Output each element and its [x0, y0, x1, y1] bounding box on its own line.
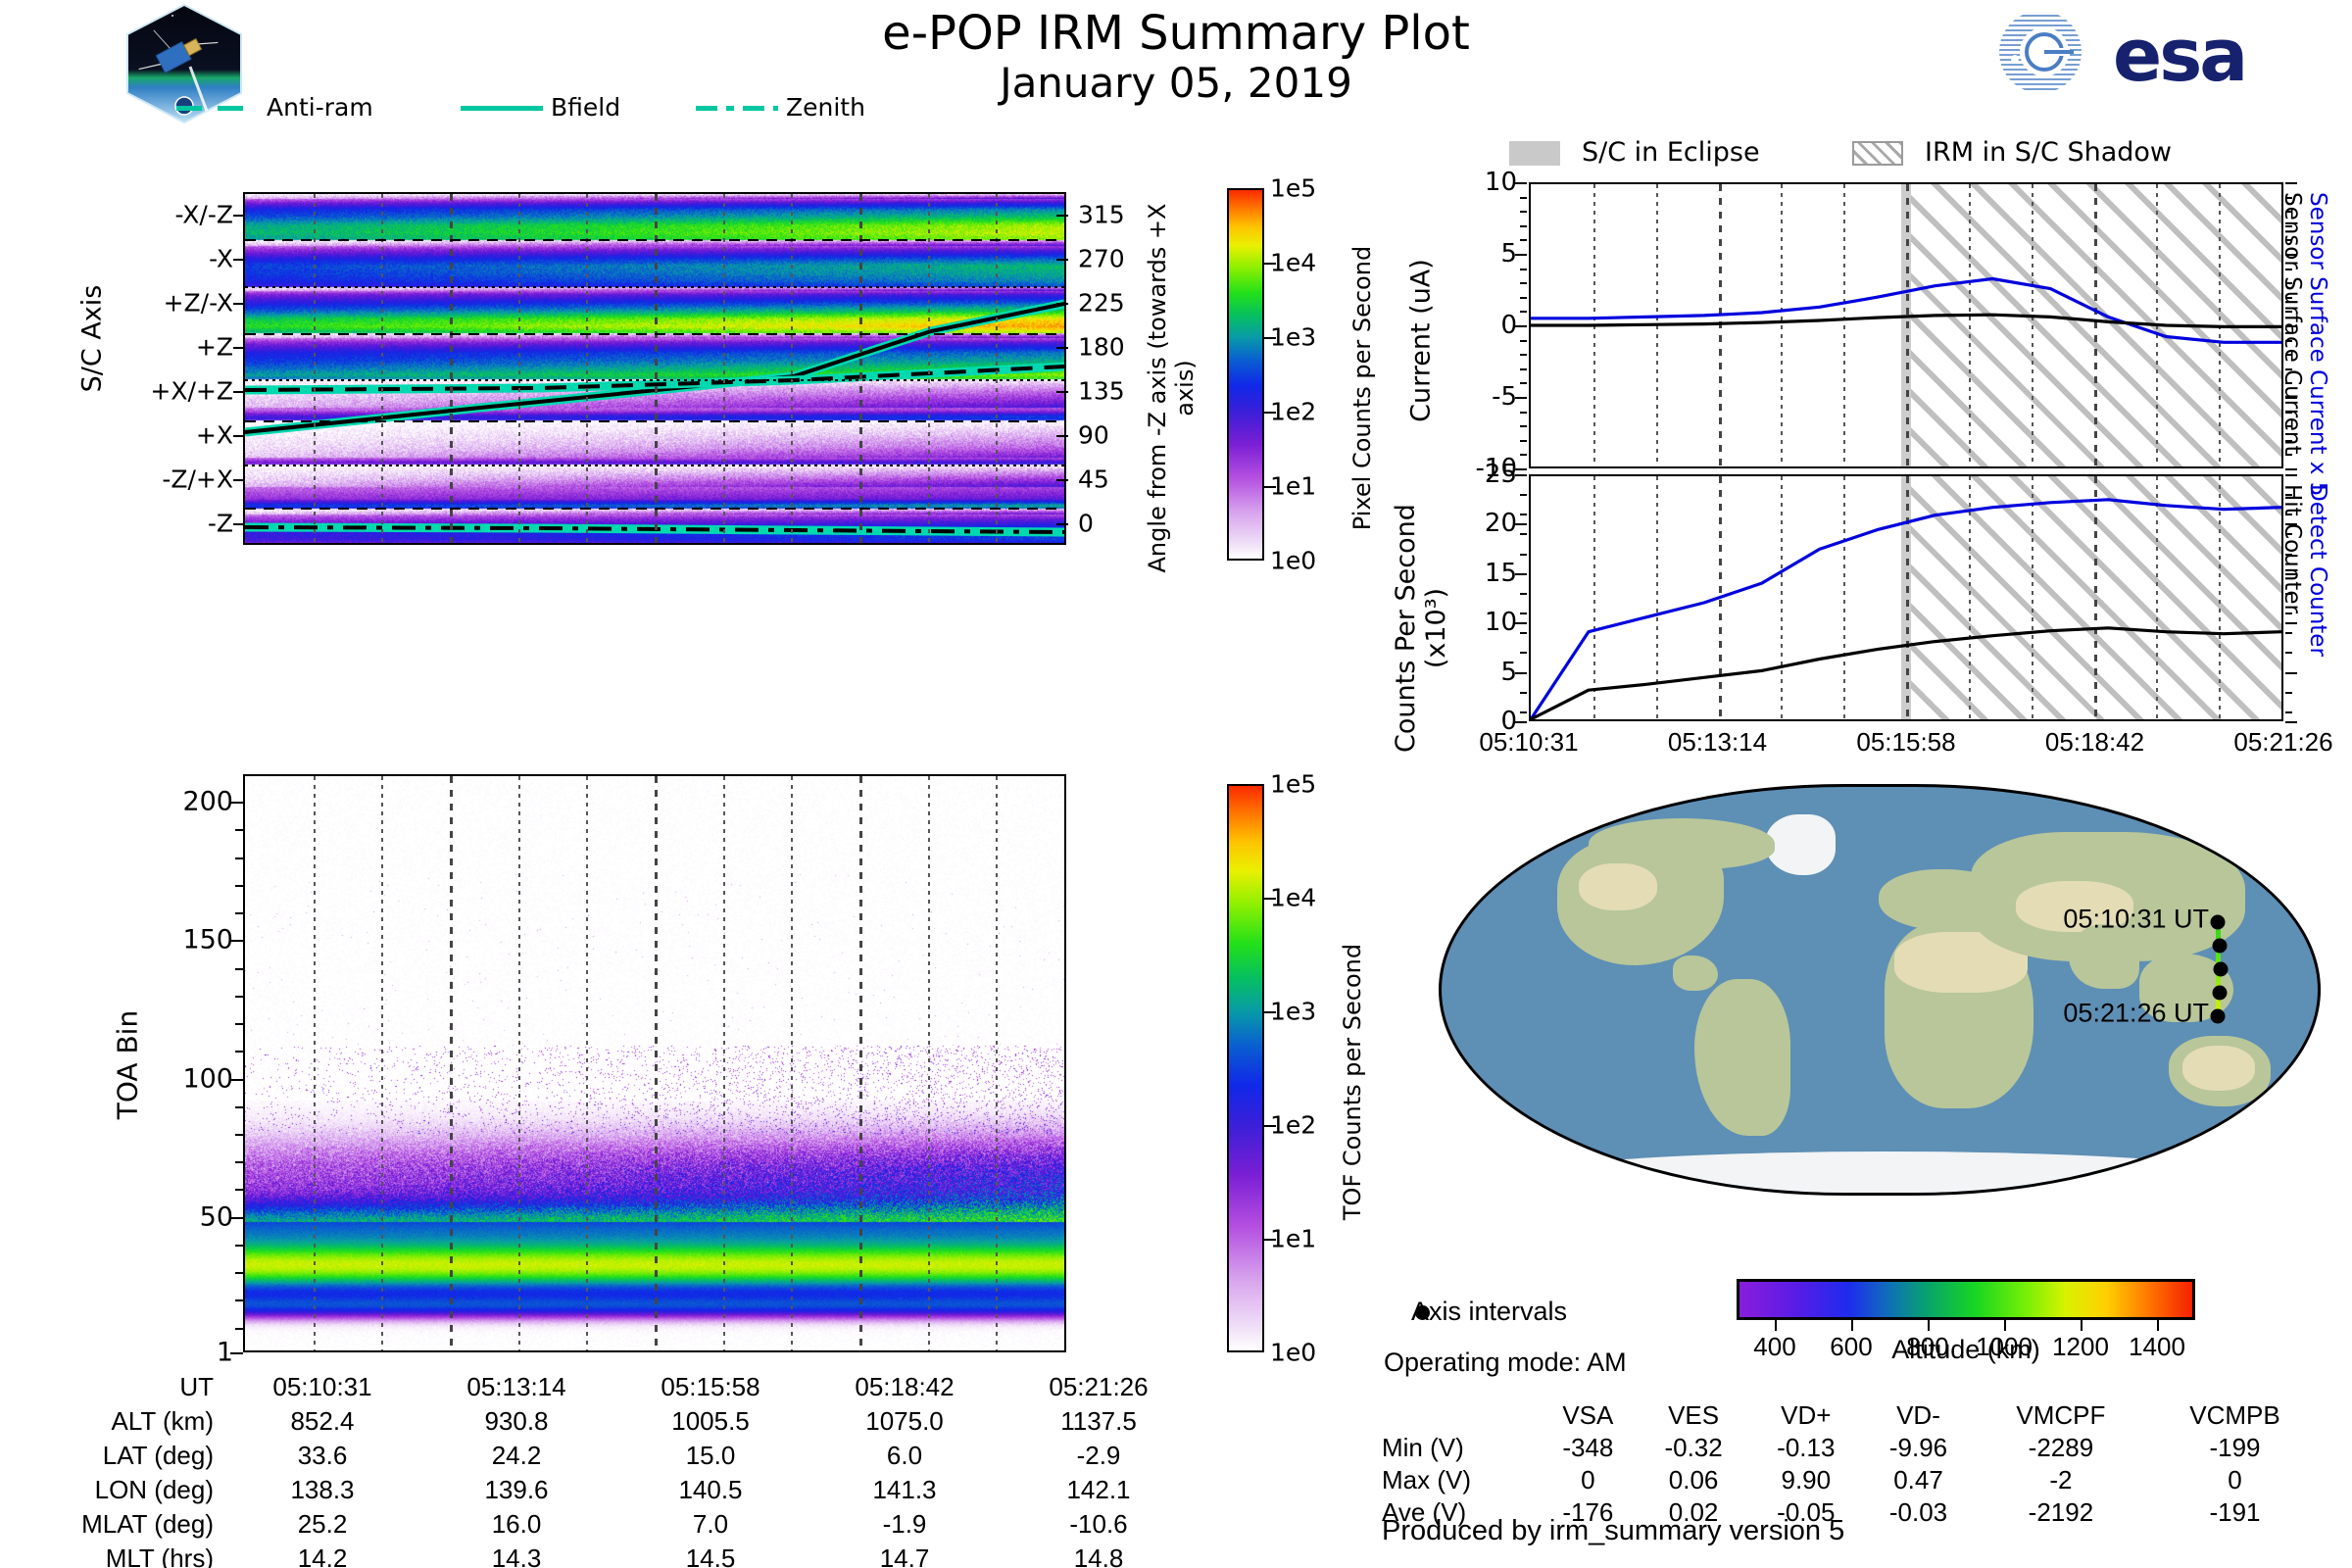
table-row: ALT (km)852.4930.81005.51075.01137.5 — [39, 1404, 1196, 1439]
column-header: VCMPB — [2147, 1399, 2323, 1432]
colorbar-tick-label: 1e3 — [1270, 998, 1316, 1026]
axis-tick-minor — [1520, 612, 1527, 614]
axis-tick — [233, 391, 245, 393]
axis-tick — [233, 259, 245, 261]
cell: 14.3 — [419, 1542, 613, 1568]
axis-tick-minor — [1520, 382, 1527, 384]
grid-line-minor — [314, 776, 316, 1350]
grid-line-minor — [791, 194, 793, 543]
axis-tick-minor — [2285, 692, 2292, 694]
row-label: LAT (deg) — [39, 1439, 225, 1473]
track-start-time: 05:10:31 UT — [2063, 905, 2209, 935]
solid-line-icon — [461, 106, 543, 111]
data-line — [1531, 500, 2281, 719]
greenland — [1765, 814, 1836, 875]
axis-tick-minor — [235, 1272, 243, 1274]
eclipse-swatch-icon — [1509, 141, 1560, 166]
sc-axis-tick-label: -X/-Z — [175, 200, 233, 228]
eclipse-legend: S/C in Eclipse IRM in S/C Shadow — [1509, 137, 2352, 171]
cell: 05:18:42 — [808, 1370, 1002, 1404]
colorbar-tick — [1851, 1320, 1853, 1331]
track-dot — [2211, 915, 2226, 930]
axis-tick-minor — [235, 1189, 243, 1191]
sc-axis-tick-label: -Z/+X — [162, 465, 233, 493]
grid-line-major — [450, 194, 453, 543]
pixel-counts-colorbar-title: Pixel Counts per Second — [1348, 192, 1376, 584]
angle-tick-label: 225 — [1078, 288, 1125, 317]
axis-tick-minor — [1520, 425, 1527, 427]
cell: 14.7 — [808, 1542, 1002, 1568]
toa-tick-label: 100 — [182, 1063, 233, 1094]
track-dot — [2214, 962, 2229, 977]
axis-tick — [1056, 523, 1068, 525]
cell: -0.13 — [1749, 1432, 1862, 1464]
row-label: MLAT (deg) — [39, 1507, 225, 1542]
axis-tick-label: 10 — [1485, 608, 1517, 637]
axis-tick-minor — [1520, 282, 1527, 284]
legend-label-anti-ram: Anti-ram — [267, 93, 373, 122]
axis-tick — [233, 479, 245, 481]
cell: 0 — [2147, 1464, 2323, 1496]
axis-tick — [2285, 622, 2297, 624]
axis-tick-minor — [1520, 533, 1527, 535]
axis-tick — [1056, 259, 1068, 261]
axis-tick — [233, 215, 245, 217]
axis-tick-minor — [1520, 711, 1527, 713]
colorbar-tick — [1775, 1320, 1777, 1331]
angle-axis-label: Angle from -Z axis (towards +X axis) — [1144, 182, 1199, 594]
cell: -2.9 — [1002, 1439, 1196, 1473]
sc-axis-tick-label: -X — [209, 244, 233, 272]
grid-line-minor — [586, 194, 588, 543]
antarctica — [1500, 1151, 2275, 1196]
axis-tick-minor — [1520, 454, 1527, 456]
cell: 1075.0 — [808, 1404, 1002, 1439]
sector-divider — [245, 239, 1064, 241]
axis-tick — [233, 435, 245, 437]
time-tick-label: 05:15:58 — [1856, 727, 1955, 758]
row-label: Max (V) — [1382, 1464, 1539, 1496]
axis-tick-minor — [235, 1106, 243, 1108]
track-dot — [2213, 986, 2228, 1001]
colorbar-tick-label: 1e5 — [1270, 174, 1316, 203]
cell: -1.9 — [808, 1507, 1002, 1542]
cell: 14.8 — [1002, 1542, 1196, 1568]
angle-tick-label: 45 — [1078, 465, 1109, 493]
sc-axis-tick-labels: -X/-Z-X+Z/-X+Z+X/+Z+X-Z/+X-Z — [59, 192, 233, 545]
axis-tick-minor — [1520, 197, 1527, 199]
sc-axis-tick-label: +X/+Z — [150, 376, 233, 405]
axis-tick-label: -5 — [1492, 382, 1517, 412]
cell: 25.2 — [225, 1507, 419, 1542]
axis-tick — [1056, 303, 1068, 305]
axis-tick — [2285, 721, 2297, 723]
axis-tick-minor — [1520, 311, 1527, 313]
australia-interior — [2182, 1046, 2255, 1091]
grid-line-minor — [381, 194, 383, 543]
row-label-empty — [1382, 1399, 1539, 1432]
axis-tick-label: 20 — [1485, 509, 1517, 538]
column-header: VSA — [1539, 1399, 1638, 1432]
cell: 05:13:14 — [419, 1370, 613, 1404]
axis-tick-minor — [1520, 269, 1527, 270]
cell: -2192 — [1975, 1496, 2147, 1529]
axis-tick — [2285, 182, 2297, 184]
cell: 1005.5 — [613, 1404, 808, 1439]
colorbar-tick-label: 1e2 — [1270, 398, 1316, 426]
row-label: MLT (hrs) — [39, 1542, 225, 1568]
axis-tick-minor — [235, 1299, 243, 1301]
altitude-colorbar-title: Altitude (km) — [1737, 1335, 2195, 1365]
table-row: MLAT (deg)25.216.07.0-1.9-10.6 — [39, 1507, 1196, 1542]
cell: 9.90 — [1749, 1464, 1862, 1496]
grid-line-minor — [996, 776, 998, 1350]
colorbar-tick — [1928, 1320, 1930, 1331]
colorbar-tick-label: 1e5 — [1270, 770, 1316, 799]
grid-line-minor — [996, 194, 998, 543]
axis-tick — [1056, 391, 1068, 393]
toa-tick-labels: 200150100501 — [88, 774, 233, 1352]
grid-line-minor — [928, 194, 930, 543]
cell: 33.6 — [225, 1439, 419, 1473]
angle-tick-label: 315 — [1078, 200, 1125, 228]
axis-tick-minor — [235, 1245, 243, 1247]
axis-tick-minor — [1520, 225, 1527, 227]
sector-divider — [245, 333, 1064, 335]
operating-mode-label: Operating mode: AM — [1384, 1347, 1627, 1378]
axis-tick-minor — [1520, 440, 1527, 442]
axis-tick-minor — [1520, 239, 1527, 241]
axis-tick — [1056, 215, 1068, 217]
cell: -199 — [2147, 1432, 2323, 1464]
row-label: LON (deg) — [39, 1473, 225, 1507]
axis-tick-minor — [1520, 340, 1527, 342]
axis-tick-label: 10 — [1485, 168, 1517, 197]
sector-divider — [245, 465, 1064, 466]
cell: -348 — [1539, 1432, 1638, 1464]
cell: -2 — [1975, 1464, 2147, 1496]
track-end-time: 05:21:26 UT — [2063, 999, 2209, 1029]
track-dot — [2211, 1009, 2226, 1024]
cell: 142.1 — [1002, 1473, 1196, 1507]
grid-line-minor — [518, 776, 520, 1350]
column-header: VMCPF — [1975, 1399, 2147, 1432]
grid-line-major — [450, 776, 453, 1350]
column-header: VES — [1638, 1399, 1750, 1432]
toa-bin-axis-label: TOA Bin — [112, 967, 144, 1163]
legend-label-shadow: IRM in S/C Shadow — [1925, 137, 2172, 168]
axis-intervals-label: Axis intervals — [1411, 1297, 1567, 1327]
axis-tick — [1056, 347, 1068, 349]
grid-line-minor — [723, 776, 725, 1350]
axis-tick-minor — [1520, 514, 1527, 515]
toa-tick-label: 150 — [182, 925, 233, 955]
central-america — [1673, 955, 1718, 991]
axis-tick-label: 15 — [1485, 559, 1517, 588]
colorbar-tick-label: 1e1 — [1270, 1225, 1316, 1253]
north-america-interior — [1579, 863, 1657, 910]
axis-tick-minor — [2285, 454, 2292, 456]
cell: 0 — [1539, 1464, 1638, 1496]
cell: 16.0 — [419, 1507, 613, 1542]
esa-logo: esa — [1989, 10, 2303, 94]
axis-tick-minor — [1520, 692, 1527, 694]
colorbar-tick — [2157, 1320, 2159, 1331]
cell: 140.5 — [613, 1473, 808, 1507]
angle-tick-label: 0 — [1078, 509, 1094, 537]
footer-text: Produced by irm_summary version 5 — [1382, 1515, 1844, 1547]
axis-tick-minor — [235, 1161, 243, 1163]
colorbar-tick-label: 1e2 — [1270, 1111, 1316, 1140]
cell: -0.32 — [1638, 1432, 1750, 1464]
voltage-table: VSAVESVD+VD-VMCPFVCMPBMin (V)-348-0.32-0… — [1382, 1399, 2323, 1529]
grid-line-minor — [791, 776, 793, 1350]
cell: -0.03 — [1862, 1496, 1975, 1529]
colorbar-tick — [2081, 1320, 2082, 1331]
grid-line-minor — [518, 194, 520, 543]
ground-track-map[interactable]: 05:10:31 UT 05:21:26 UT — [1439, 784, 2321, 1196]
cell: 141.3 — [808, 1473, 1002, 1507]
axis-tick-minor — [235, 1051, 243, 1053]
axis-tick-minor — [235, 885, 243, 887]
time-tick-label: 05:21:26 — [2233, 727, 2332, 758]
sc-axis-tick-label: -Z — [208, 509, 233, 537]
axis-tick — [2285, 474, 2297, 476]
axis-tick — [1056, 435, 1068, 437]
axis-tick-minor — [1520, 354, 1527, 356]
grid-line-minor — [586, 776, 588, 1350]
track-dot — [2213, 939, 2228, 954]
axis-tick-minor — [235, 829, 243, 831]
axis-tick-minor — [235, 968, 243, 970]
sc-axis-tick-label: +Z — [196, 332, 233, 361]
axis-tick-minor — [1520, 652, 1527, 654]
legend-label-bfield: Bfield — [551, 93, 620, 122]
colorbar-tick — [2004, 1320, 2006, 1331]
grid-line-major — [655, 776, 658, 1350]
map-globe — [1439, 784, 2321, 1196]
column-header: VD- — [1862, 1399, 1975, 1432]
axis-tick-minor — [235, 1328, 243, 1330]
cell: 05:15:58 — [613, 1370, 808, 1404]
axis-tick-minor — [1520, 211, 1527, 213]
axis-tick — [2285, 672, 2297, 674]
counts-right-label-blue: Detect Counter — [2305, 484, 2330, 657]
data-line — [1531, 279, 2281, 343]
time-tick-label: 05:18:42 — [2045, 727, 2144, 758]
axis-tick-minor — [1520, 593, 1527, 595]
dashed-line-icon — [176, 106, 259, 111]
axis-tick-label: 25 — [1485, 460, 1517, 489]
dash-dot-line-icon — [696, 106, 778, 111]
toa-tick-label: 200 — [182, 787, 233, 817]
cell: 7.0 — [613, 1507, 808, 1542]
axis-tick-minor — [1520, 368, 1527, 370]
colorbar-tick-label: 1e3 — [1270, 323, 1316, 352]
toa-bin-spectrogram-plot[interactable] — [243, 774, 1066, 1352]
sector-divider — [245, 379, 1064, 381]
grid-line-minor — [928, 776, 930, 1350]
grid-line-major — [859, 194, 862, 543]
time-tick-label: 05:13:14 — [1668, 727, 1767, 758]
axis-tick — [233, 523, 245, 525]
cell: 05:21:26 — [1002, 1370, 1196, 1404]
cell: 1137.5 — [1002, 1404, 1196, 1439]
current-axis-label: Current (uA) — [1406, 223, 1437, 459]
cell: 6.0 — [808, 1439, 1002, 1473]
table-row: MLT (hrs)14.214.314.514.714.8 — [39, 1542, 1196, 1568]
cell: -9.96 — [1862, 1432, 1975, 1464]
angle-spectrogram-plot[interactable] — [243, 192, 1066, 545]
table-row: LAT (deg)33.624.215.06.0-2.9 — [39, 1439, 1196, 1473]
colorbar-tick-label: 1e4 — [1270, 249, 1316, 277]
spectrogram-legend: Anti-ram Bfield Zenith — [176, 93, 921, 126]
counts-right-label-black: Hit Counter — [2279, 484, 2305, 613]
time-axis-labels: 05:10:3105:13:1405:15:5805:18:4205:21:26 — [0, 727, 2352, 766]
shadow-hatch-icon — [1852, 141, 1903, 166]
axis-tick-label: 5 — [1500, 658, 1517, 687]
angle-tick-label: 90 — [1078, 420, 1109, 449]
toa-tick-label: 50 — [200, 1201, 233, 1232]
toa-tick-label: 1 — [217, 1338, 233, 1368]
table-row: UT05:10:3105:13:1405:15:5805:18:4205:21:… — [39, 1370, 1196, 1404]
table-row: Min (V)-348-0.32-0.13-9.96-2289-199 — [1382, 1432, 2323, 1464]
table-header-row: VSAVESVD+VD-VMCPFVCMPB — [1382, 1399, 2323, 1432]
cell: 24.2 — [419, 1439, 613, 1473]
data-line — [1531, 628, 2281, 719]
cell: 05:10:31 — [225, 1370, 419, 1404]
axis-tick — [233, 303, 245, 305]
axis-tick-label: 5 — [1500, 239, 1517, 269]
axis-tick-minor — [2285, 652, 2292, 654]
axis-tick-minor — [235, 1023, 243, 1025]
grid-line-major — [859, 776, 862, 1350]
cell: -191 — [2147, 1496, 2323, 1529]
legend-label-zenith: Zenith — [786, 93, 865, 122]
axis-tick-label: 0 — [1500, 311, 1517, 340]
column-header: VD+ — [1749, 1399, 1862, 1432]
axis-tick-minor — [1520, 632, 1527, 634]
sc-axis-tick-label: +Z/-X — [164, 288, 233, 317]
axis-tick-minor — [1520, 494, 1527, 496]
esa-wordmark: esa — [2113, 14, 2245, 98]
sc-axis-tick-label: +X — [196, 420, 233, 449]
grid-line-minor — [381, 776, 383, 1350]
cell: 139.6 — [419, 1473, 613, 1507]
sensor-current-plot[interactable] — [1529, 182, 2283, 468]
grid-line-minor — [314, 194, 316, 543]
axis-tick-minor — [2285, 711, 2292, 713]
row-label: UT — [39, 1370, 225, 1404]
time-tick-label: 05:10:31 — [1479, 727, 1578, 758]
cell: 138.3 — [225, 1473, 419, 1507]
cell: 14.2 — [225, 1542, 419, 1568]
grid-line-minor — [723, 194, 725, 543]
current-right-label-black: Sensor Surface Current — [2279, 192, 2305, 454]
axis-tick-minor — [1520, 554, 1527, 556]
page-title: e-POP IRM Summary Plot — [686, 6, 1666, 61]
row-label: Min (V) — [1382, 1432, 1539, 1464]
south-america — [1694, 979, 1790, 1136]
grid-line-major — [655, 194, 658, 543]
colorbar-tick-label: 1e0 — [1270, 547, 1316, 575]
axis-tick — [2285, 468, 2297, 470]
axis-tick-minor — [235, 996, 243, 998]
cell: 0.47 — [1862, 1464, 1975, 1496]
table-row: Max (V)00.069.900.47-20 — [1382, 1464, 2323, 1496]
axis-tick — [233, 347, 245, 349]
colorbar-tick-label: 1e4 — [1270, 884, 1316, 912]
ephemeris-table: UT05:10:3105:13:1405:15:5805:18:4205:21:… — [39, 1370, 1196, 1568]
legend-label-eclipse: S/C in Eclipse — [1582, 137, 1760, 168]
axis-tick-minor — [1520, 412, 1527, 414]
axis-tick-minor — [1520, 297, 1527, 299]
axis-tick-minor — [235, 857, 243, 859]
angle-tick-label: 135 — [1078, 376, 1125, 405]
angle-tick-label: 180 — [1078, 332, 1125, 361]
axis-tick-minor — [235, 1134, 243, 1136]
sector-divider — [245, 286, 1064, 288]
cell: 15.0 — [613, 1439, 808, 1473]
counters-plot[interactable] — [1529, 474, 2283, 721]
table-row: LON (deg)138.3139.6140.5141.3142.1 — [39, 1473, 1196, 1507]
cell: 852.4 — [225, 1404, 419, 1439]
cell: -10.6 — [1002, 1507, 1196, 1542]
angle-tick-label: 270 — [1078, 244, 1125, 272]
colorbar-tick-label: 1e0 — [1270, 1339, 1316, 1367]
colorbar-tick-label: 1e1 — [1270, 472, 1316, 501]
cell: -2289 — [1975, 1432, 2147, 1464]
cell: 0.06 — [1638, 1464, 1750, 1496]
tof-counts-colorbar-title: TOF Counts per Second — [1339, 876, 1366, 1288]
current-right-label-blue: Sensor Surface Current x 5 — [2305, 192, 2330, 496]
row-label: ALT (km) — [39, 1404, 225, 1439]
cell: 14.5 — [613, 1542, 808, 1568]
sector-divider — [245, 508, 1064, 510]
sector-divider — [245, 420, 1064, 422]
axis-tick — [1056, 479, 1068, 481]
cell: 930.8 — [419, 1404, 613, 1439]
axis-tick-minor — [2285, 632, 2292, 634]
axis-tick-minor — [235, 912, 243, 914]
